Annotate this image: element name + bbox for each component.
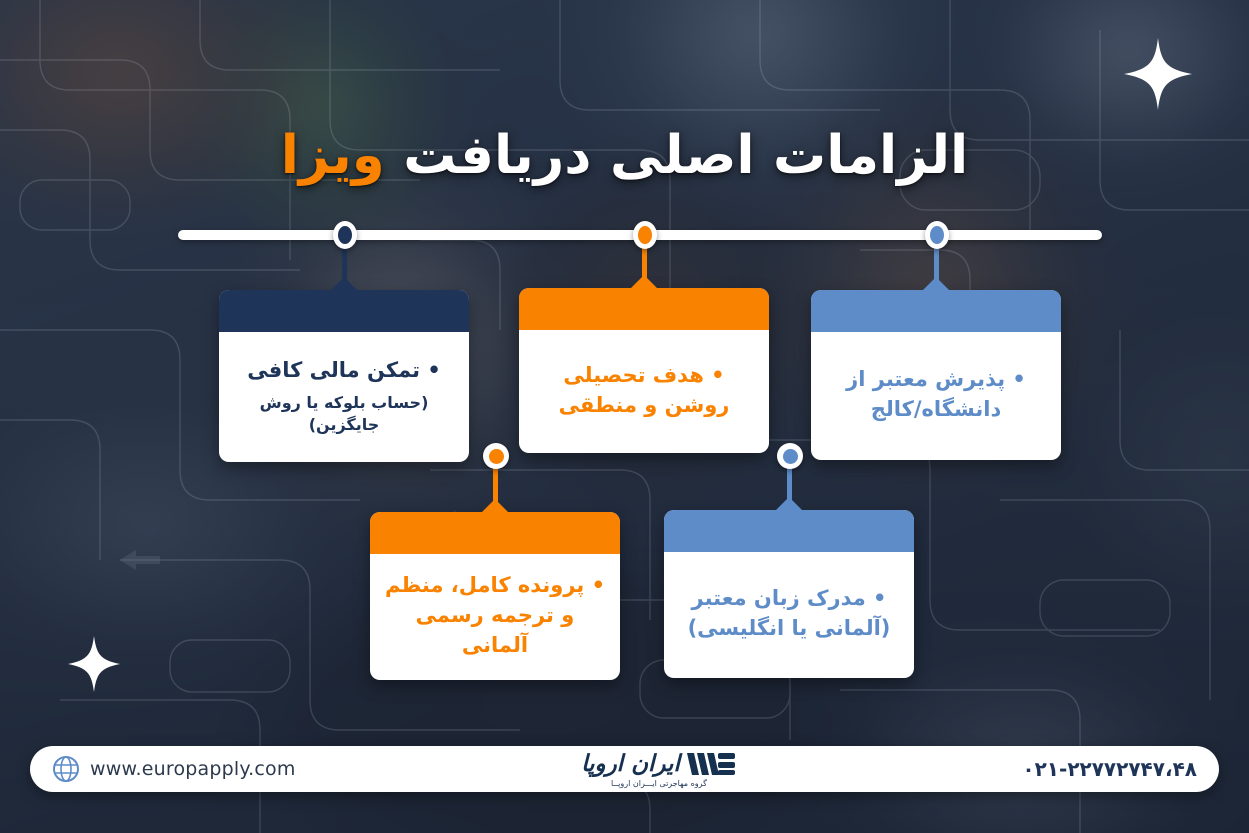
card-documents-header <box>370 512 620 554</box>
footer-website-group[interactable]: www.europapply.com <box>52 755 296 783</box>
timeline-node-language[interactable] <box>777 443 803 469</box>
card-admission-title: • پذیرش معتبر از دانشگاه/کالج <box>825 365 1047 425</box>
brand-name: ایران اروپا <box>581 751 680 777</box>
timeline-node-documents[interactable] <box>483 443 509 469</box>
phone-number[interactable]: ۰۲۱-۲۲۷۷۲۷۴۷،۴۸ <box>1022 757 1197 781</box>
timeline-node-admission[interactable] <box>925 221 949 249</box>
footer-bar: www.europapply.com ایران اروپا گروه مهاج… <box>30 746 1219 792</box>
timeline-node-documents-core <box>489 449 504 464</box>
card-study-goal-header <box>519 288 769 330</box>
timeline-node-financial[interactable] <box>333 221 357 249</box>
timeline-node-financial-core <box>338 226 352 244</box>
page-title-accent: ویزا <box>281 125 385 186</box>
website-url[interactable]: www.europapply.com <box>90 758 296 780</box>
timeline-node-study-goal-core <box>638 226 652 244</box>
card-documents-title: • پرونده کامل، منظم و ترجمه رسمی آلمانی <box>384 571 606 660</box>
card-admission[interactable]: • پذیرش معتبر از دانشگاه/کالج <box>811 290 1061 460</box>
card-financial-header <box>219 290 469 332</box>
card-financial-subtitle: (حساب بلوکه یا روش جایگزین) <box>233 392 455 437</box>
card-financial-title: • تمکن مالی کافی <box>233 356 455 386</box>
card-admission-header <box>811 290 1061 332</box>
card-language[interactable]: • مدرک زبان معتبر (آلمانی یا انگلیسی) <box>664 510 914 678</box>
brand-logo: ایران اروپا گروه مهاجرتی ایـــران اروپــ… <box>581 750 737 788</box>
timeline-node-language-core <box>783 449 798 464</box>
card-language-header <box>664 510 914 552</box>
card-study-goal[interactable]: • هدف تحصیلی روشن و منطقی <box>519 288 769 453</box>
brand-mark-icon <box>685 750 737 778</box>
sparkle-icon <box>66 634 122 694</box>
page-title-main: الزامات اصلی دریافت <box>403 125 968 186</box>
brand-tagline: گروه مهاجرتی ایـــران اروپــا <box>611 779 707 788</box>
page-title: الزامات اصلی دریافت ویزا <box>0 125 1249 186</box>
card-financial[interactable]: • تمکن مالی کافی (حساب بلوکه یا روش جایگ… <box>219 290 469 462</box>
card-documents[interactable]: • پرونده کامل، منظم و ترجمه رسمی آلمانی <box>370 512 620 680</box>
card-study-goal-title: • هدف تحصیلی روشن و منطقی <box>533 361 755 421</box>
timeline-node-admission-core <box>930 226 944 244</box>
card-language-title: • مدرک زبان معتبر (آلمانی یا انگلیسی) <box>678 584 900 644</box>
timeline-node-study-goal[interactable] <box>633 221 657 249</box>
globe-icon <box>52 755 80 783</box>
sparkle-icon <box>1122 36 1194 112</box>
infographic-poster: الزامات اصلی دریافت ویزا • تمکن مالی کاف… <box>0 0 1249 833</box>
